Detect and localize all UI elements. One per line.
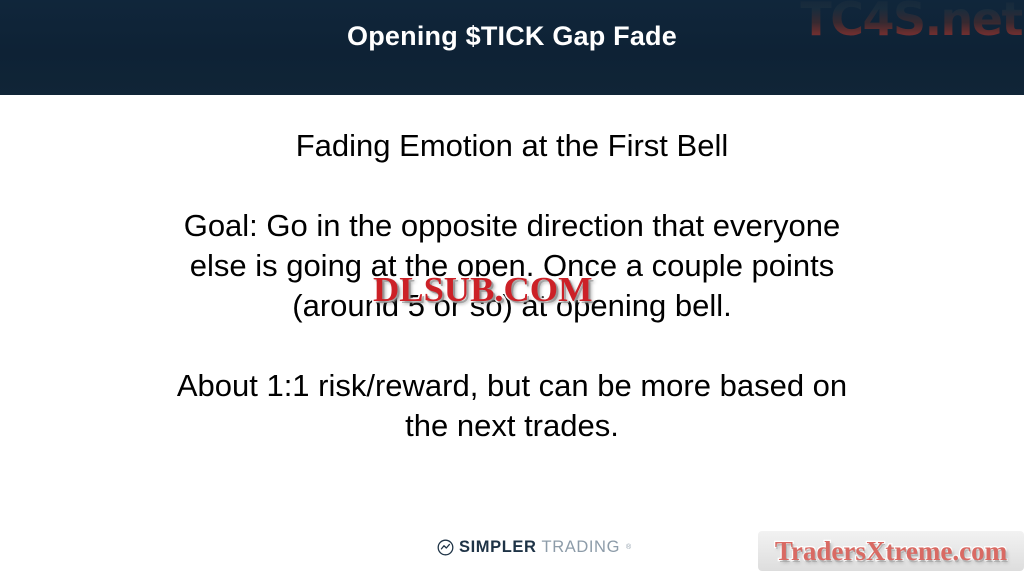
simpler-trading-logo: SIMPLERTRADING® <box>437 538 631 557</box>
logo-word-trading: TRADING <box>542 538 620 557</box>
body-goal-line-3: (around 5 or so) at opening bell. <box>72 286 952 326</box>
body-goal-line-1: Goal: Go in the opposite direction that … <box>72 206 952 246</box>
presentation-slide: Opening $TICK Gap Fade TC4S.net Fading E… <box>0 0 1024 576</box>
body-heading: Fading Emotion at the First Bell <box>72 126 952 166</box>
slide-title: Opening $TICK Gap Fade <box>0 0 1024 95</box>
slide-body: Fading Emotion at the First Bell Goal: G… <box>72 126 952 446</box>
slide-header-bar: Opening $TICK Gap Fade TC4S.net <box>0 0 1024 95</box>
body-risk-line-2: the next trades. <box>72 406 952 446</box>
logo-word-simpler: SIMPLER <box>459 538 537 557</box>
logo-registered-mark: ® <box>626 544 631 551</box>
body-spacer-2 <box>72 326 952 366</box>
circle-chart-icon <box>437 539 454 556</box>
body-goal-line-2: else is going at the open. Once a couple… <box>72 246 952 286</box>
body-spacer-1 <box>72 166 952 206</box>
tradersxtreme-watermark: TradersXtreme.com <box>758 531 1024 571</box>
tradersxtreme-watermark-text: TradersXtreme.com <box>775 536 1007 567</box>
body-risk-line-1: About 1:1 risk/reward, but can be more b… <box>72 366 952 406</box>
